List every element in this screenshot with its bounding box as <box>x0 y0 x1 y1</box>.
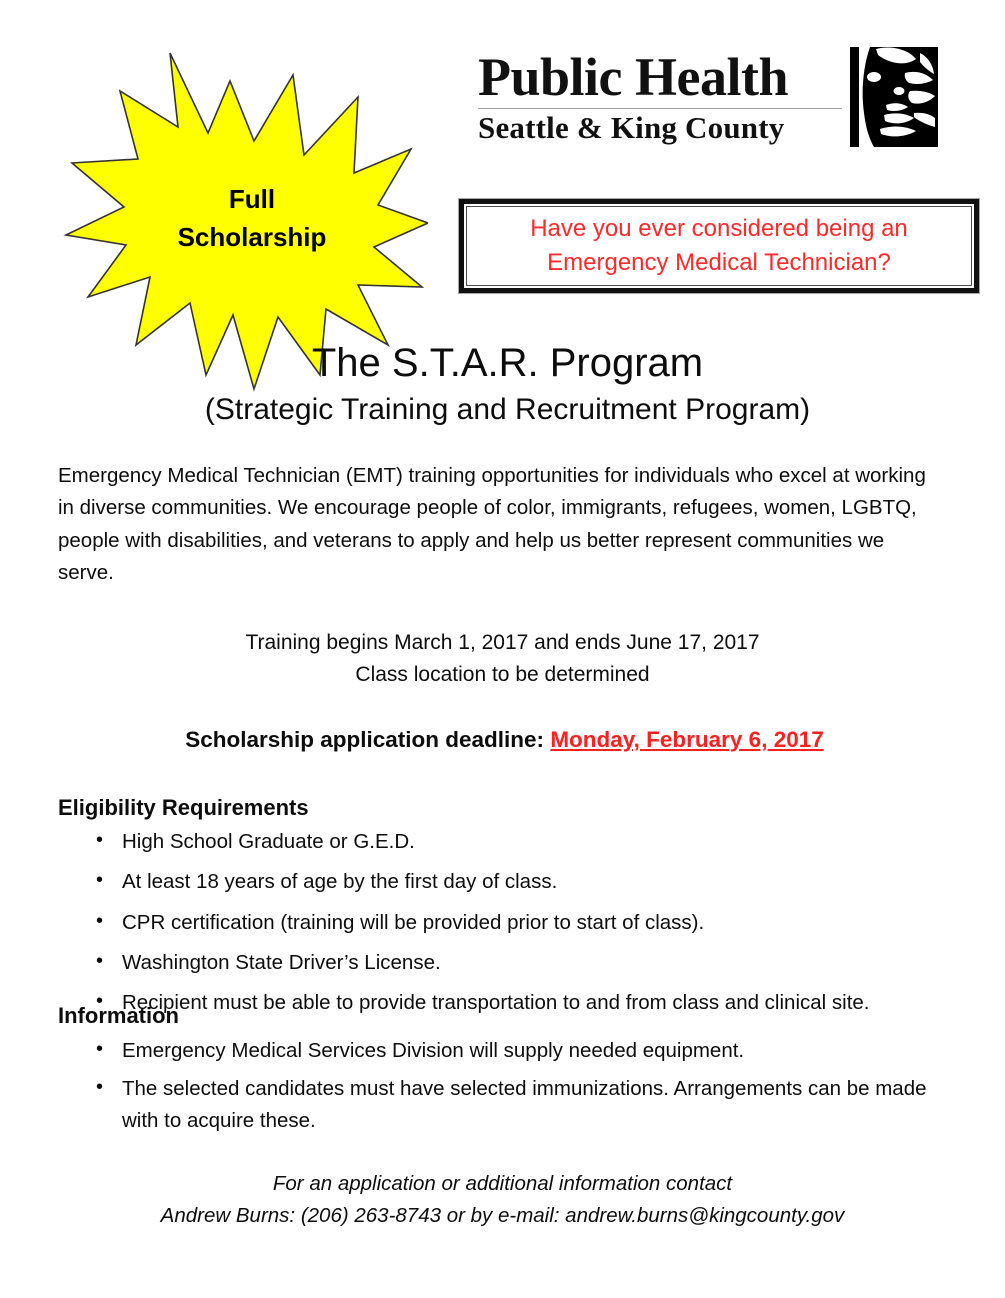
information-heading: Information <box>58 1003 179 1029</box>
list-item: Emergency Medical Services Division will… <box>58 1035 938 1067</box>
page-title: The S.T.A.R. Program <box>0 340 1005 386</box>
deadline-label: Scholarship application deadline: <box>185 727 550 752</box>
contact-line-1: For an application or additional informa… <box>0 1168 1005 1200</box>
public-health-logo: Public Health Seattle & King County <box>478 47 938 147</box>
schedule-block: Training begins March 1, 2017 and ends J… <box>0 627 1005 691</box>
schedule-dates: Training begins March 1, 2017 and ends J… <box>0 627 1005 659</box>
eligibility-list: High School Graduate or G.E.D. At least … <box>58 826 938 1027</box>
page-subtitle: (Strategic Training and Recruitment Prog… <box>0 392 1005 428</box>
list-item: High School Graduate or G.E.D. <box>58 826 938 858</box>
logo-title: Public Health <box>478 50 842 104</box>
list-item: At least 18 years of age by the first da… <box>58 866 938 898</box>
list-item: Washington State Driver’s License. <box>58 947 938 979</box>
information-list: Emergency Medical Services Division will… <box>58 1035 938 1142</box>
logo-row: Public Health Seattle & King County <box>478 47 938 147</box>
contact-footer: For an application or additional informa… <box>0 1168 1005 1232</box>
list-item: CPR certification (training will be prov… <box>58 907 938 939</box>
list-item: The selected candidates must have select… <box>58 1073 938 1137</box>
intro-paragraph: Emergency Medical Technician (EMT) train… <box>58 460 938 590</box>
contact-line-2: Andrew Burns: (206) 263-8743 or by e-mai… <box>0 1200 1005 1232</box>
callout-box: Have you ever considered being an Emerge… <box>459 199 979 293</box>
callout-line-1: Have you ever considered being an <box>530 212 908 246</box>
logo-divider-rule <box>478 108 842 109</box>
logo-wordmark: Public Health Seattle & King County <box>478 47 842 147</box>
face-silhouette-icon <box>850 47 938 147</box>
deadline-line: Scholarship application deadline: Monday… <box>0 727 1005 753</box>
deadline-date: Monday, February 6, 2017 <box>550 727 823 752</box>
logo-subtitle: Seattle & King County <box>478 112 842 145</box>
eligibility-heading: Eligibility Requirements <box>58 795 309 821</box>
callout-text: Have you ever considered being an Emerge… <box>530 212 908 280</box>
list-item: Recipient must be able to provide transp… <box>58 987 938 1019</box>
schedule-location: Class location to be determined <box>0 659 1005 691</box>
callout-line-2: Emergency Medical Technician? <box>530 246 908 280</box>
